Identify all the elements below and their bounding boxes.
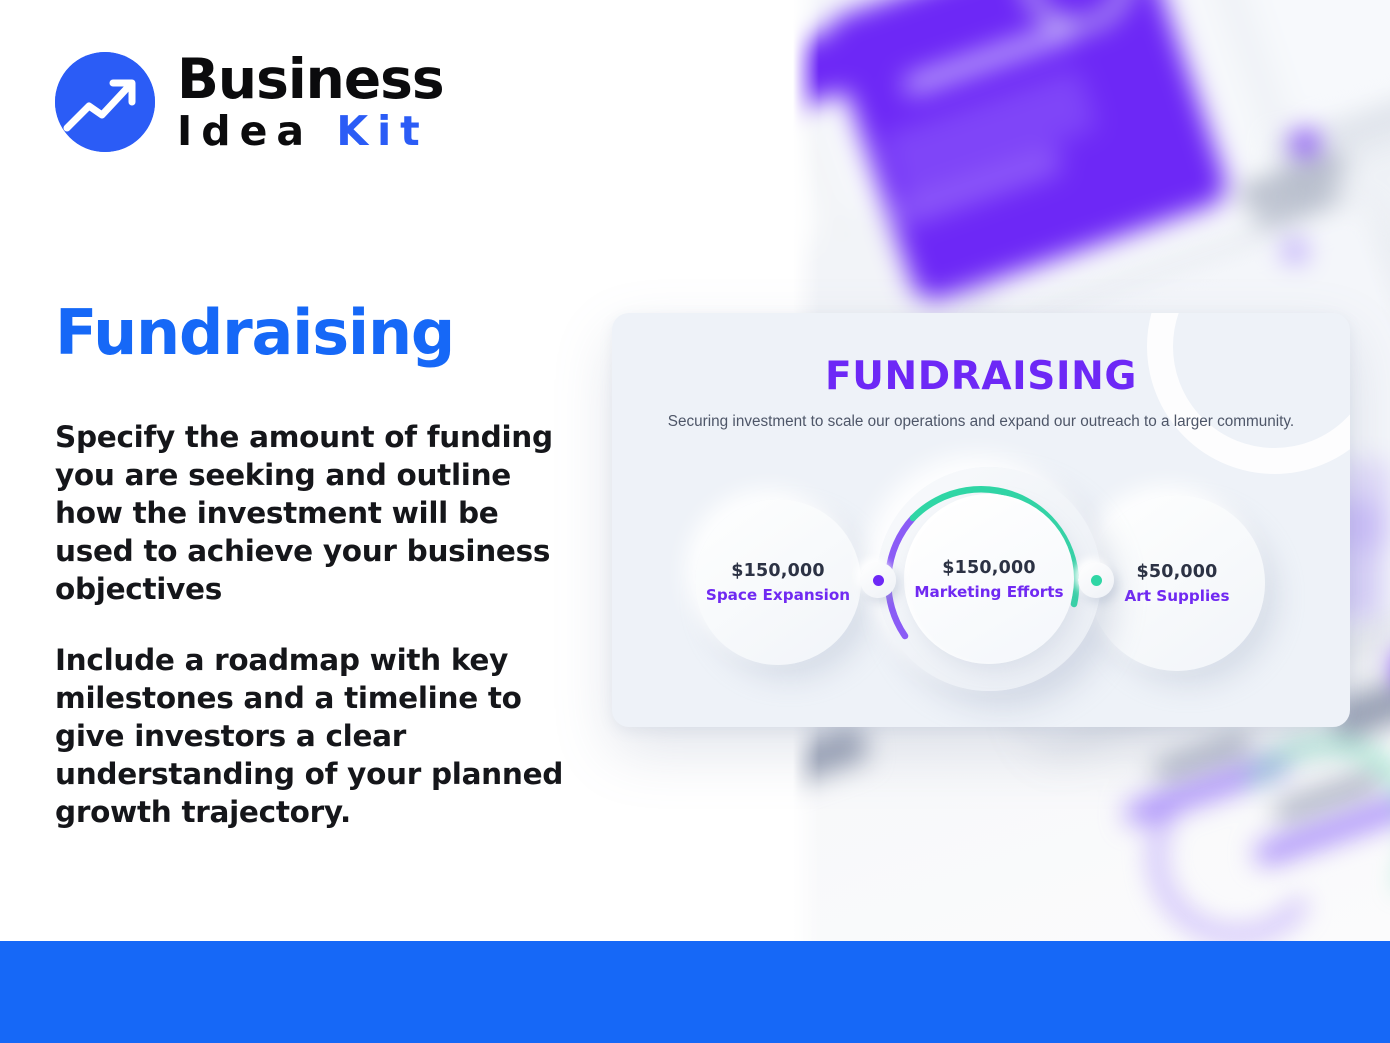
- brand-name-line1: Business: [177, 52, 444, 107]
- background-dot: [1292, 130, 1318, 156]
- brand-name-idea: Idea: [177, 107, 313, 155]
- page-title: Fundraising: [55, 296, 454, 369]
- connector-dot-mint-icon: [1091, 575, 1102, 586]
- connector-node-left: [860, 562, 896, 598]
- fund-item-art-supplies[interactable]: $50,000 Art Supplies: [1089, 495, 1265, 671]
- brand-wordmark: Business Idea Kit: [177, 52, 444, 152]
- fund-item-label: Space Expansion: [706, 586, 850, 604]
- fund-item-marketing-efforts[interactable]: $150,000 Marketing Efforts: [877, 467, 1101, 691]
- paragraph-2: Include a roadmap with key milestones an…: [55, 641, 575, 831]
- brand-name-kit: Kit: [336, 107, 428, 155]
- paragraph-1: Specify the amount of funding you are se…: [55, 418, 575, 608]
- fund-item-amount: $150,000: [942, 558, 1035, 578]
- connector-dot-violet-icon: [873, 575, 884, 586]
- fundraising-diagram: $150,000 Space Expansion $50,000 Art Sup…: [612, 313, 1350, 727]
- bottom-accent-bar: [0, 941, 1390, 1043]
- slide-page: Business Idea Kit Fundraising Specify th…: [0, 0, 1390, 1043]
- body-copy: Specify the amount of funding you are se…: [55, 418, 575, 831]
- fund-item-label: Marketing Efforts: [914, 583, 1063, 601]
- fund-item-amount: $150,000: [731, 561, 824, 581]
- fund-item-amount: $50,000: [1136, 562, 1217, 582]
- background-dot: [1284, 240, 1306, 262]
- growth-chart-circle-icon: [55, 52, 155, 152]
- connector-node-right: [1078, 562, 1114, 598]
- fund-item-center-face: $150,000 Marketing Efforts: [904, 494, 1074, 664]
- fund-item-space-expansion[interactable]: $150,000 Space Expansion: [695, 499, 861, 665]
- fundraising-preview-card: FUNDRAISING Securing investment to scale…: [612, 313, 1350, 727]
- brand-name-line2: Idea Kit: [177, 111, 444, 152]
- brand-logo: Business Idea Kit: [55, 52, 444, 152]
- fund-item-label: Art Supplies: [1124, 587, 1229, 605]
